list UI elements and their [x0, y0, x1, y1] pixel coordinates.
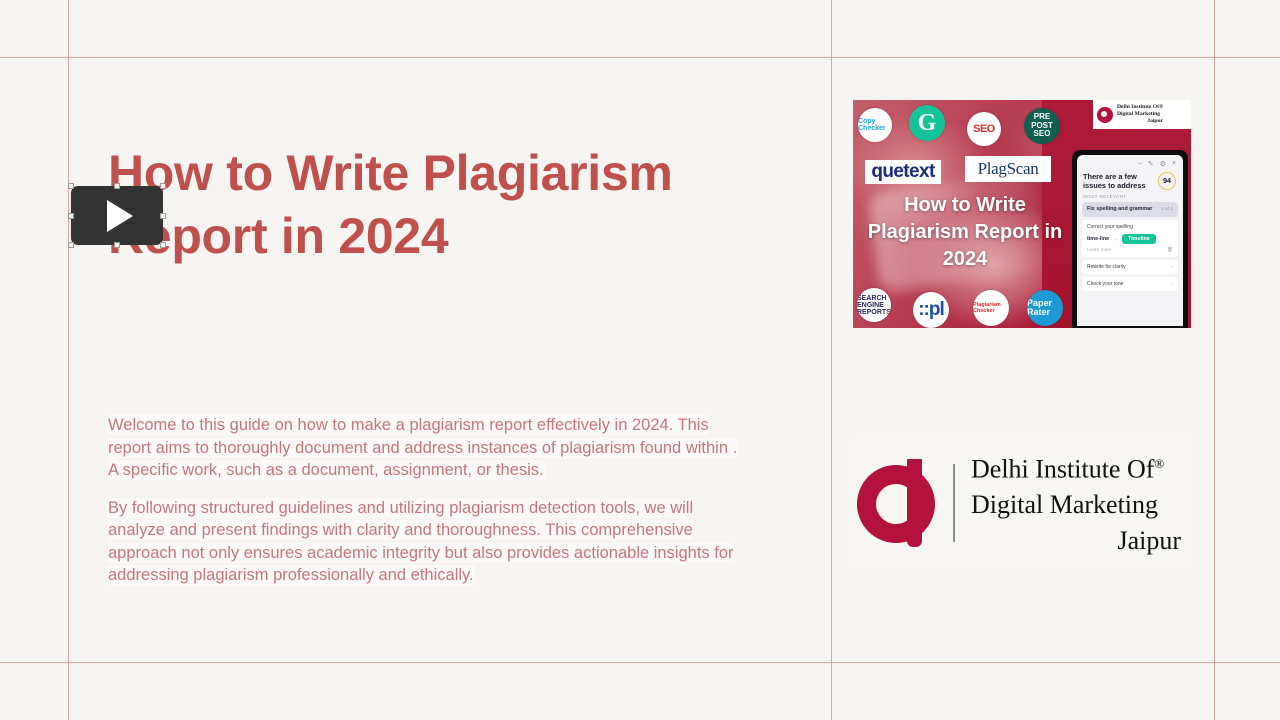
phone-suggestion-label: Correct your spelling [1087, 224, 1173, 234]
chevron-right-icon-2: › [1171, 282, 1173, 287]
body-copy: Welcome to this guide on how to make a p… [108, 414, 748, 602]
paragraph-2-text: By following structured guidelines and u… [108, 499, 734, 585]
plagiarism-pl-logo-icon: ::pl [913, 292, 949, 328]
resize-handle-bottom-right[interactable] [160, 242, 166, 248]
searchenginereports-logo-icon: SEARCH ENGINE REPORTS [857, 288, 891, 322]
slide-canvas: How to Write Plagiarism Report in 2024 W… [0, 0, 1280, 720]
plagiarismchecker-logo-icon: Plagiarism Checker [973, 290, 1009, 326]
phone-card-title: Fix spelling and grammar [1087, 206, 1152, 213]
guide-line-mid [831, 0, 832, 720]
minimize-icon: – [1138, 160, 1142, 168]
phone-suggestion-from: time-line [1087, 236, 1109, 243]
phone-card-counter: 1 of 2 [1161, 207, 1173, 212]
play-icon [107, 200, 133, 232]
thumbnail-badge-text: Delhi Institute Of® Digital Marketing Ja… [1117, 104, 1163, 125]
phone-screen: – ✎ ⚙ × There are a few issues to addres… [1077, 155, 1183, 326]
resize-handle-bottom-left[interactable] [68, 242, 74, 248]
didm-mark-icon [1097, 107, 1113, 123]
guide-line-left [68, 0, 69, 720]
resize-handle-bottom-center[interactable] [114, 242, 120, 248]
paragraph-1: Welcome to this guide on how to make a p… [108, 414, 748, 482]
gear-icon: ⚙ [1160, 160, 1166, 168]
phone-card-fix-spelling: Fix spelling and grammar 1 of 2 [1082, 202, 1178, 217]
phone-item-tone: Check your tone [1087, 281, 1123, 287]
phone-suggestion-to: Timeline [1122, 234, 1156, 244]
thumbnail-badge-reg: ® [1159, 104, 1163, 110]
phone-score-badge: 94 [1158, 172, 1176, 190]
didm-divider [953, 464, 955, 542]
phone-mockup: – ✎ ⚙ × There are a few issues to addres… [1072, 150, 1188, 328]
phone-card-suggestion: Correct your spelling time-line → Timeli… [1082, 220, 1178, 257]
plagiarismchecker-logo-label: Plagiarism Checker [973, 302, 1009, 314]
grammarly-logo-label: G [918, 110, 937, 137]
prepostseo-logo-label: PRE POST SEO [1024, 113, 1060, 139]
didm-logo: Delhi Institute Of® Digital Marketing Ja… [853, 437, 1191, 568]
searchenginereports-logo-label: SEARCH ENGINE REPORTS [857, 295, 891, 316]
video-thumbnail[interactable]: Copy Checker G SEO PRE POST SEO quetext … [853, 100, 1191, 328]
phone-item-rewrite: Rewrite for clarity [1087, 264, 1126, 270]
close-icon: × [1172, 160, 1176, 168]
thumbnail-badge-line1: Delhi Institute Of [1117, 104, 1159, 110]
didm-logo-mark-icon [857, 459, 945, 547]
guide-line-top [0, 57, 1280, 58]
thumbnail-brand-badge: Delhi Institute Of® Digital Marketing Ja… [1093, 100, 1191, 129]
didm-line3: Jaipur [971, 523, 1181, 559]
phone-learn-more: Learn more [1087, 248, 1112, 253]
guide-line-right [1214, 0, 1215, 720]
thumbnail-headline: How to Write Plagiarism Report in 2024 [865, 192, 1065, 273]
copychecker-logo-label: Copy Checker [858, 118, 892, 132]
chevron-right-icon: › [1171, 265, 1173, 270]
prepostseo-logo-icon: PRE POST SEO [1024, 108, 1060, 144]
video-play-overlay[interactable] [68, 183, 166, 248]
seo-logo-icon: SEO [967, 112, 1001, 146]
plagscan-logo-icon: PlagScan [965, 156, 1051, 182]
pen-icon: ✎ [1148, 160, 1154, 168]
resize-handle-top-left[interactable] [68, 183, 74, 189]
guide-line-bottom [0, 662, 1280, 663]
grammarly-logo-icon: G [909, 105, 945, 141]
phone-topbar: – ✎ ⚙ × [1082, 159, 1178, 172]
phone-card-rewrite: Rewrite for clarity › [1082, 260, 1178, 274]
copychecker-logo-icon: Copy Checker [858, 108, 892, 142]
phone-heading: There are a few issues to address [1083, 172, 1149, 190]
phone-header: There are a few issues to address 94 [1082, 172, 1178, 194]
plagiarism-pl-logo-label: ::pl [918, 299, 944, 321]
phone-card-tone: Check your tone › [1082, 277, 1178, 291]
arrow-right-icon: → [1113, 237, 1118, 242]
page-title: How to Write Plagiarism Report in 2024 [108, 142, 748, 268]
resize-handle-top-right[interactable] [160, 183, 166, 189]
seo-logo-label: SEO [973, 123, 995, 135]
resize-handle-middle-right[interactable] [160, 213, 166, 219]
didm-logo-text: Delhi Institute Of® Digital Marketing Ja… [971, 446, 1181, 560]
resize-handle-top-center[interactable] [114, 183, 120, 189]
phone-section-label: MOST RELEVANT [1082, 194, 1178, 202]
paragraph-2: By following structured guidelines and u… [108, 497, 748, 587]
play-button[interactable] [71, 186, 163, 245]
paperrater-logo-label: Paper Rater [1027, 299, 1063, 317]
paperrater-logo-icon: Paper Rater [1027, 290, 1063, 326]
paragraph-1-text: Welcome to this guide on how to make a p… [108, 416, 737, 479]
didm-stem [907, 459, 922, 547]
thumbnail-badge-line2: Digital Marketing [1117, 111, 1160, 117]
thumbnail-badge-line3: Jaipur [1117, 118, 1163, 125]
didm-registered: ® [1154, 456, 1164, 471]
resize-handle-middle-left[interactable] [68, 213, 74, 219]
trash-icon: 🗑 [1167, 248, 1173, 253]
quetext-logo-label: quetext [871, 161, 934, 183]
didm-line2: Digital Marketing [971, 490, 1158, 519]
didm-line1: Delhi Institute Of [971, 454, 1154, 483]
plagscan-logo-label: PlagScan [978, 159, 1039, 179]
quetext-logo-icon: quetext [865, 160, 941, 184]
